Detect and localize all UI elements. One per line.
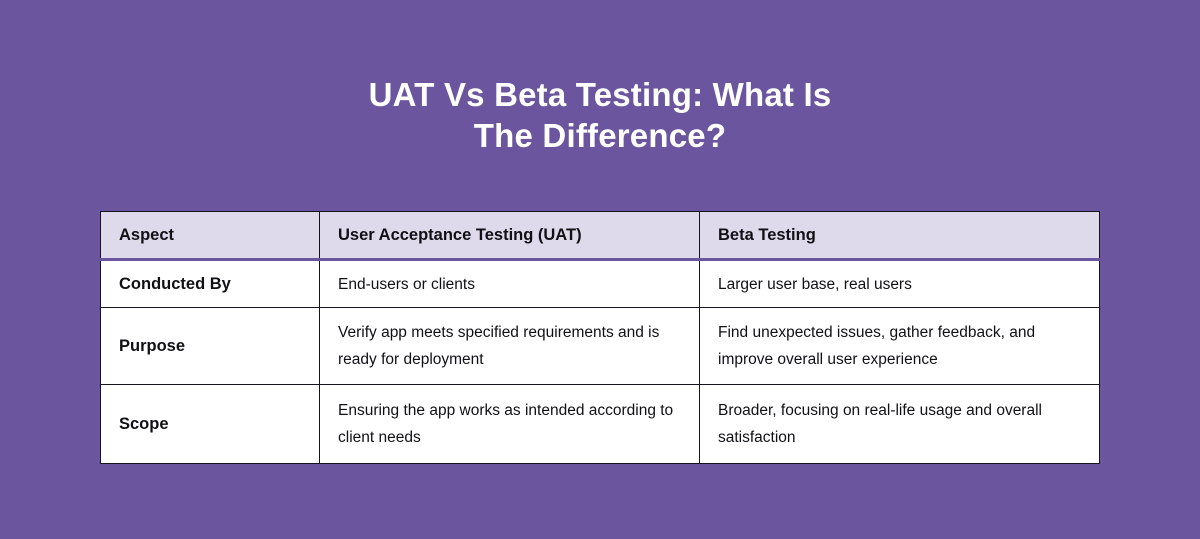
cell-beta: Larger user base, real users <box>700 260 1100 308</box>
cell-uat: Verify app meets specified requirements … <box>320 308 700 385</box>
comparison-table: Aspect User Acceptance Testing (UAT) Bet… <box>100 211 1100 464</box>
cell-aspect: Conducted By <box>101 260 320 308</box>
table-header: Aspect User Acceptance Testing (UAT) Bet… <box>101 212 1100 260</box>
comparison-table-container: Aspect User Acceptance Testing (UAT) Bet… <box>100 211 1099 464</box>
table-header-row: Aspect User Acceptance Testing (UAT) Bet… <box>101 212 1100 260</box>
table-body: Conducted By End-users or clients Larger… <box>101 260 1100 464</box>
cell-beta: Broader, focusing on real-life usage and… <box>700 385 1100 464</box>
page-title-line-2: The Difference? <box>0 115 1200 156</box>
cell-aspect: Purpose <box>101 308 320 385</box>
page-title: UAT Vs Beta Testing: What Is The Differe… <box>0 74 1200 156</box>
column-header-aspect: Aspect <box>101 212 320 260</box>
cell-uat: Ensuring the app works as intended accor… <box>320 385 700 464</box>
cell-uat: End-users or clients <box>320 260 700 308</box>
column-header-uat: User Acceptance Testing (UAT) <box>320 212 700 260</box>
table-row: Scope Ensuring the app works as intended… <box>101 385 1100 464</box>
slide-canvas: UAT Vs Beta Testing: What Is The Differe… <box>0 0 1200 539</box>
page-title-line-1: UAT Vs Beta Testing: What Is <box>0 74 1200 115</box>
cell-aspect: Scope <box>101 385 320 464</box>
table-row: Conducted By End-users or clients Larger… <box>101 260 1100 308</box>
table-row: Purpose Verify app meets specified requi… <box>101 308 1100 385</box>
cell-beta: Find unexpected issues, gather feedback,… <box>700 308 1100 385</box>
column-header-beta: Beta Testing <box>700 212 1100 260</box>
